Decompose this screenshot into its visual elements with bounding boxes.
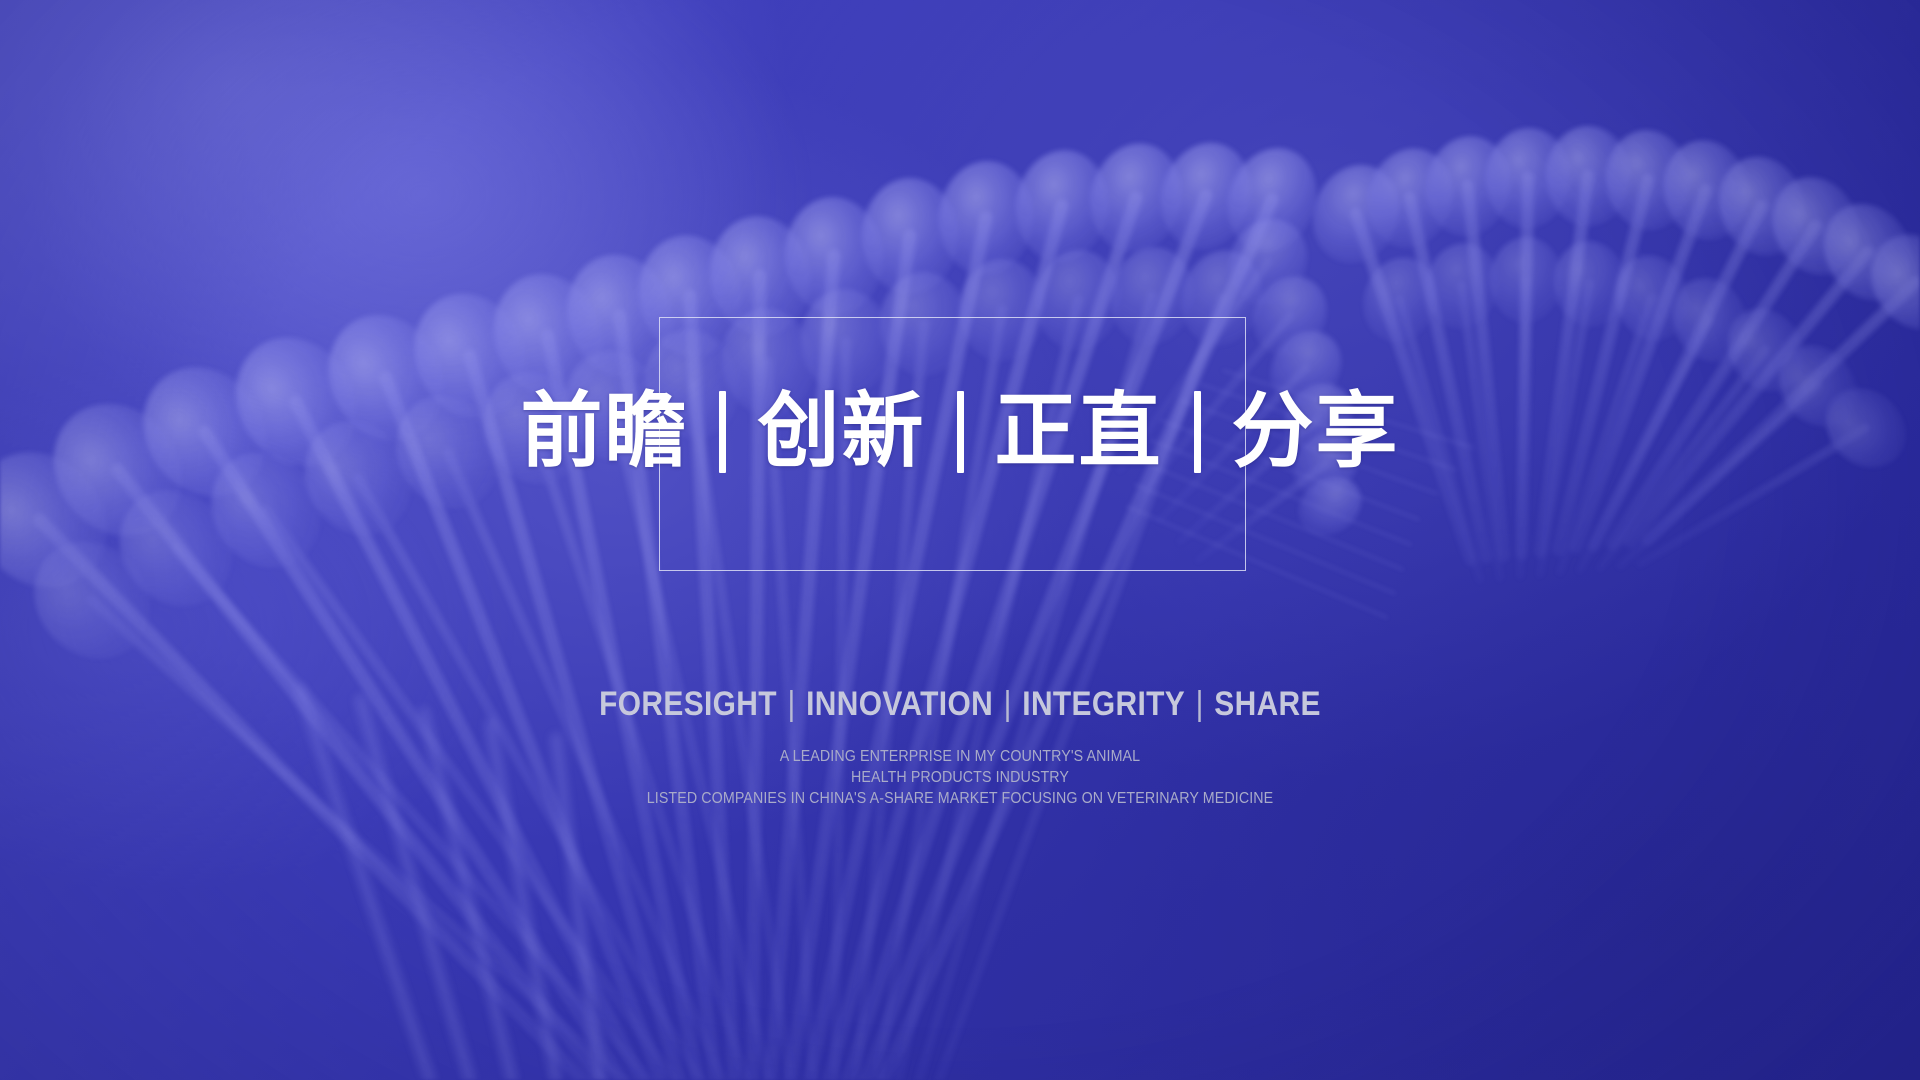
tagline-word-foresight: FORESIGHT (599, 685, 777, 723)
headline-separator-1 (719, 391, 726, 473)
headline-separator-3 (1194, 391, 1201, 473)
headline-separator-2 (957, 391, 964, 473)
description-line-3: LISTED COMPANIES IN CHINA'S A-SHARE MARK… (77, 788, 1843, 809)
tagline-word-innovation: INNOVATION (806, 685, 993, 723)
tagline-word-integrity: INTEGRITY (1022, 685, 1185, 723)
value-word-foresight: 前瞻 (520, 388, 688, 476)
banner-content: 前瞻 创新 正直 分享 FORESIGHT|INNOVATION|INTEGRI… (0, 0, 1920, 1080)
tagline-separator-1: | (787, 683, 795, 725)
value-word-share: 分享 (1232, 388, 1400, 476)
company-description: A LEADING ENTERPRISE IN MY COUNTRY'S ANI… (0, 746, 1920, 809)
tagline-separator-2: | (1004, 683, 1012, 725)
value-word-innovation: 创新 (757, 388, 925, 476)
tagline-word-share: SHARE (1214, 685, 1321, 723)
description-line-2: HEALTH PRODUCTS INDUSTRY (77, 767, 1843, 788)
description-line-1: A LEADING ENTERPRISE IN MY COUNTRY'S ANI… (77, 746, 1843, 767)
tagline-separator-3: | (1196, 683, 1204, 725)
values-headline: 前瞻 创新 正直 分享 (0, 386, 1920, 478)
banner-stage: 前瞻 创新 正直 分享 FORESIGHT|INNOVATION|INTEGRI… (0, 0, 1920, 1080)
values-tagline-english: FORESIGHT|INNOVATION|INTEGRITY|SHARE (115, 683, 1805, 725)
value-word-integrity: 正直 (995, 388, 1163, 476)
